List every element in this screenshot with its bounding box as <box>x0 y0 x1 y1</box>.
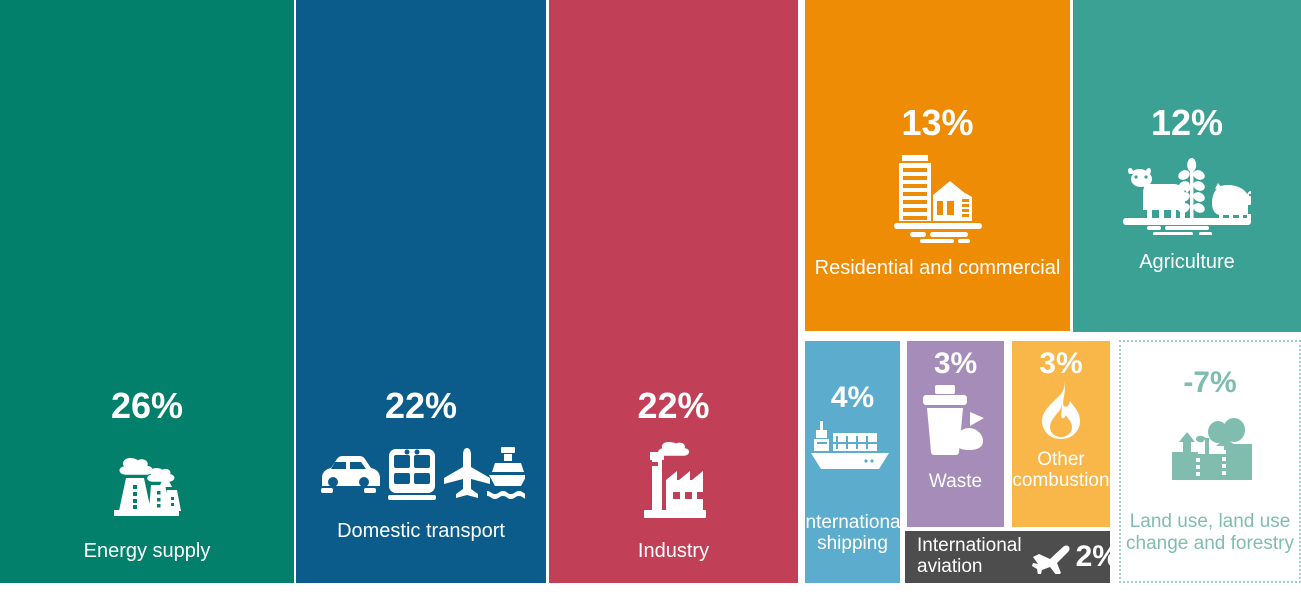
shipping-label: International shipping <box>805 512 900 555</box>
industry-percentage: 22% <box>637 388 709 424</box>
panel-waste[interactable]: 3% Waste <box>907 341 1004 527</box>
industry-label: Industry <box>638 541 709 562</box>
pig-icon <box>1212 183 1251 221</box>
energy-supply-label: Energy supply <box>84 541 211 562</box>
energy-supply-percentage: 26% <box>111 388 183 424</box>
aviation-percentage: 2% <box>1076 540 1110 574</box>
panel-industry[interactable]: 22% Industry <box>549 0 798 583</box>
buildings-icon <box>890 155 986 248</box>
panel-domestic-transport[interactable]: 22% <box>296 0 546 583</box>
residential-percentage: 13% <box>901 105 973 141</box>
panel-other-combustion[interactable]: 3% Other combustion <box>1012 341 1110 527</box>
panel-agriculture[interactable]: 12% <box>1073 0 1301 332</box>
waste-bin-icon <box>919 385 993 462</box>
airplane-icon <box>1030 544 1076 579</box>
forest-icon <box>1168 414 1252 485</box>
car-icon <box>321 456 380 493</box>
other-combustion-label: Other combustion <box>1012 450 1110 492</box>
land-use-percentage: -7% <box>1183 368 1236 398</box>
land-use-label: Land use, land use change and forestry <box>1121 511 1299 555</box>
panel-land-use-change-forestry[interactable]: -7% <box>1119 340 1301 583</box>
airplane-icon <box>444 448 490 498</box>
panel-international-shipping[interactable]: 4% <box>805 341 900 583</box>
other-combustion-percentage: 3% <box>1039 349 1082 379</box>
power-plant-icon <box>104 442 190 525</box>
wheat-icon <box>1177 158 1207 219</box>
emissions-by-sector-infographic: 26% <box>0 0 1301 608</box>
domestic-transport-label: Domestic transport <box>337 521 505 542</box>
panel-residential-commercial[interactable]: 13% <box>805 0 1070 331</box>
domestic-transport-percentage: 22% <box>385 388 457 424</box>
residential-label: Residential and commercial <box>815 258 1061 279</box>
panel-international-aviation[interactable]: International aviation 2% <box>905 531 1110 583</box>
aviation-label: International aviation <box>917 536 1022 577</box>
factory-icon <box>632 434 716 531</box>
livestock-crops-icon <box>1123 157 1251 240</box>
shipping-percentage: 4% <box>831 383 874 413</box>
transport-modes-icon <box>317 446 525 507</box>
flame-icon <box>1034 381 1088 444</box>
waste-label: Waste <box>929 472 982 492</box>
container-ship-icon <box>811 421 895 482</box>
train-icon <box>388 449 436 500</box>
panel-energy-supply[interactable]: 26% <box>0 0 294 583</box>
ship-icon <box>487 447 525 499</box>
agriculture-label: Agriculture <box>1139 252 1235 273</box>
agriculture-percentage: 12% <box>1151 105 1223 141</box>
waste-percentage: 3% <box>934 349 977 379</box>
